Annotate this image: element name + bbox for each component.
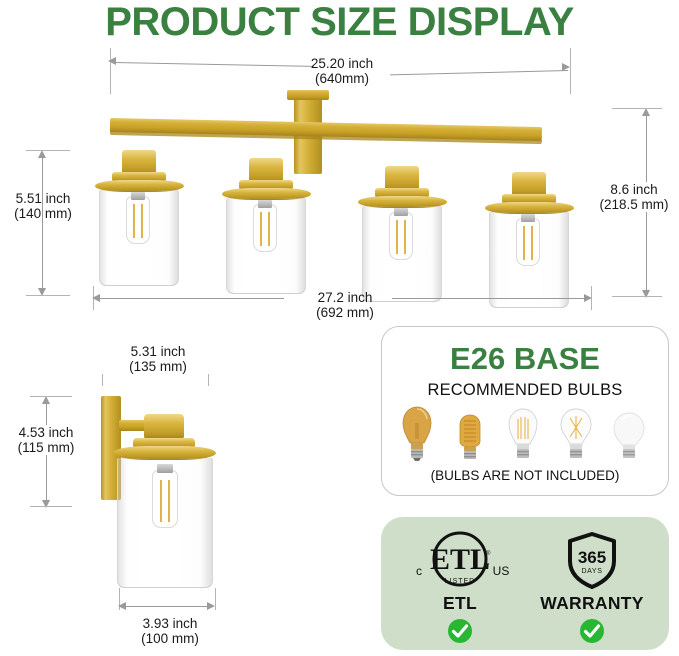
svg-text:ETL: ETL: [430, 543, 490, 576]
dim-sconce-left-inch: 4.53 inch: [19, 425, 74, 440]
bulb-filament-1: [133, 204, 135, 238]
dim-top-width-mm: (640mm): [282, 71, 402, 86]
clear-st64-filament-bulb-icon: [500, 403, 546, 465]
dim-sconce-top-inch: 5.31 inch: [131, 344, 186, 359]
bulb-4: [516, 218, 540, 266]
bulb-2: [253, 204, 277, 252]
dimension-line-top-right: [390, 70, 568, 75]
dimension-label-bottom-width: 27.2 inch (692 mm): [285, 290, 405, 320]
dimension-label-left-height: 5.51 inch (140 mm): [0, 191, 86, 221]
sconce-socket-collar: [144, 414, 184, 440]
dim-left-height-inch: 5.51 inch: [16, 191, 71, 206]
arrow-left-sconce-bottom: [118, 602, 126, 610]
white-led-a19-bulb-icon: [606, 403, 652, 465]
extension-line-5p51-bottom: [26, 295, 70, 296]
svg-text:LISTED: LISTED: [445, 578, 476, 585]
etl-column: ETL LISTED c US ® ETL: [395, 531, 525, 641]
lamp-head-3: [353, 146, 463, 306]
bulb-filament-3b: [404, 220, 406, 254]
lamp-head-2: [217, 138, 327, 298]
e26-disclaimer: (BULBS ARE NOT INCLUDED): [382, 468, 668, 483]
bulb-filament-1b: [141, 204, 143, 238]
warranty-label: WARRANTY: [527, 593, 657, 614]
arrow-up-sconce-left: [42, 396, 50, 404]
dim-right-height-inch: 8.6 inch: [610, 182, 657, 197]
dim-sconce-bottom-inch: 3.93 inch: [143, 616, 198, 631]
warranty-check-icon: [580, 619, 604, 643]
dimension-line-left-height: [42, 156, 43, 290]
extension-line-right: [570, 48, 571, 94]
bulb-base-4: [521, 214, 535, 222]
bulb-base-3: [394, 208, 408, 216]
dimension-label-sconce-bottom-width: 3.93 inch (100 mm): [110, 616, 230, 646]
arrow-left-bottom-width: [92, 294, 100, 302]
dim-sconce-left-mm: (115 mm): [3, 440, 89, 455]
extension-line-3p93-right: [215, 588, 216, 610]
lamp-head-1: [90, 130, 200, 290]
svg-text:c: c: [416, 564, 422, 578]
bulb-1: [126, 196, 150, 244]
dim-sconce-bottom-mm: (100 mm): [110, 631, 230, 646]
fixture-backplate-top: [287, 90, 329, 100]
bulb-base-2: [258, 200, 272, 208]
recommended-bulbs-row: [392, 403, 660, 465]
etl-check-icon: [448, 619, 472, 643]
bulb-filament-4b: [531, 226, 533, 260]
dimension-label-right-height: 8.6 inch (218.5 mm): [589, 182, 679, 212]
warranty-column: 365 DAYS WARRANTY: [527, 531, 657, 641]
bulb-filament-3: [396, 220, 398, 254]
dim-top-width-inch: 25.20 inch: [311, 56, 373, 71]
bulb-3: [389, 212, 413, 260]
svg-text:US: US: [493, 564, 510, 578]
dimension-label-sconce-left-height: 4.53 inch (115 mm): [3, 425, 89, 455]
arrow-left-top-width: [108, 57, 116, 65]
e26-title: E26 BASE: [382, 341, 668, 377]
arrow-up-left-height: [38, 150, 46, 158]
svg-text:365: 365: [578, 548, 606, 567]
arrow-right-sconce-bottom: [207, 602, 215, 610]
e26-base-card: E26 BASE RECOMMENDED BULBS: [381, 326, 669, 496]
sconce-bulb-filament-b: [168, 480, 170, 522]
dimension-label-top-width: 25.20 inch (640mm): [282, 56, 402, 86]
main-fixture-illustration: [90, 90, 590, 290]
e26-subtitle: RECOMMENDED BULBS: [382, 381, 668, 400]
svg-text:DAYS: DAYS: [582, 568, 603, 575]
sconce-bulb: [152, 470, 178, 528]
etl-label: ETL: [395, 593, 525, 614]
dimension-line-sconce-bottom: [125, 606, 211, 607]
page-title: PRODUCT SIZE DISPLAY: [0, 0, 679, 44]
extension-line-4p53-top: [30, 396, 72, 397]
arrow-right-top-width: [562, 63, 570, 71]
extension-line-8p6-bottom: [612, 296, 662, 297]
arrow-right-bottom-width: [584, 294, 592, 302]
certification-card: ETL LISTED c US ® ETL 365 DAYS: [381, 517, 669, 650]
extension-line-8p6-top: [612, 108, 662, 109]
sconce-bulb-base: [157, 464, 173, 473]
dimension-left-height: [30, 150, 60, 296]
dim-bottom-width-inch: 27.2 inch: [318, 290, 373, 305]
bulb-base-1: [131, 192, 145, 200]
dimension-line-bottom-left: [100, 298, 284, 299]
etl-mark-icon: ETL LISTED c US ®: [407, 531, 513, 591]
single-sconce-illustration: [95, 392, 245, 597]
bulb-filament-2: [260, 212, 262, 246]
extension-line-left: [110, 48, 111, 94]
warranty-shield-icon: 365 DAYS: [564, 531, 620, 591]
amber-st64-bulb-icon: [394, 403, 440, 465]
extension-line-4p53-bottom: [30, 506, 72, 507]
dim-left-height-mm: (140 mm): [0, 206, 86, 221]
dim-right-height-mm: (218.5 mm): [589, 197, 679, 212]
dim-sconce-top-mm: (135 mm): [99, 359, 217, 374]
sconce-bulb-filament-a: [160, 480, 162, 522]
dimension-line-bottom-right: [392, 298, 584, 299]
svg-text:®: ®: [486, 550, 491, 557]
extension-line-5p51-top: [26, 150, 70, 151]
dimension-label-sconce-top-width: 5.31 inch (135 mm): [99, 344, 217, 374]
bulb-filament-4: [523, 226, 525, 260]
bulb-filament-2b: [268, 212, 270, 246]
clear-a19-filament-bulb-icon: [553, 403, 599, 465]
arrow-up-right-height: [642, 108, 650, 116]
dim-bottom-width-mm: (692 mm): [285, 305, 405, 320]
product-size-display-page: PRODUCT SIZE DISPLAY: [0, 0, 679, 656]
amber-tubular-bulb-icon: [447, 403, 493, 465]
